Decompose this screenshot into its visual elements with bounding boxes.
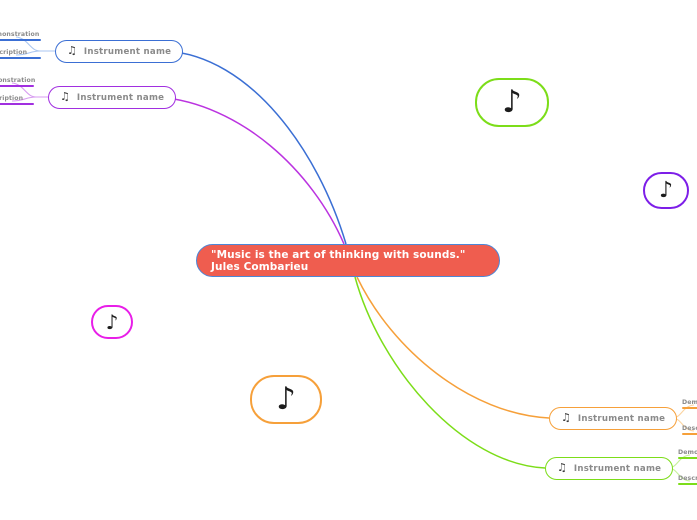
- sub-bar-green-demonstration: [678, 457, 697, 459]
- sub-label-green-description[interactable]: Description: [678, 475, 697, 482]
- note-node-orange[interactable]: ♪: [250, 375, 322, 424]
- sub-label-purple-description[interactable]: Description: [0, 95, 23, 102]
- music-note-icon: ♪: [659, 180, 673, 202]
- music-note-icon: ♪: [276, 384, 296, 415]
- music-note-icon: ♫: [557, 462, 567, 473]
- link-green-main: [355, 277, 545, 468]
- sub-label-blue-description[interactable]: Description: [0, 49, 27, 56]
- music-note-icon: ♫: [67, 45, 77, 56]
- sub-bar-purple-demonstration: [0, 85, 34, 87]
- sub-bar-purple-description: [0, 103, 34, 105]
- sub-label-orange-demonstration[interactable]: Demonstration: [682, 399, 697, 406]
- mindmap-canvas: "Music is the art of thinking with sound…: [0, 0, 697, 520]
- link-purple-main: [159, 97, 344, 244]
- instrument-node-label: Instrument name: [84, 47, 171, 57]
- note-node-magenta[interactable]: ♪: [91, 305, 133, 339]
- instrument-node-label: Instrument name: [77, 93, 164, 103]
- sub-label-blue-demonstration[interactable]: Demonstration: [0, 31, 39, 38]
- link-orange-main: [357, 277, 549, 418]
- sub-label-orange-description[interactable]: Description: [682, 425, 697, 432]
- note-node-green[interactable]: ♪: [475, 78, 549, 127]
- sub-bar-blue-description: [0, 57, 41, 59]
- center-node[interactable]: "Music is the art of thinking with sound…: [196, 244, 500, 277]
- sub-bar-orange-demonstration: [682, 407, 697, 409]
- sub-bar-blue-demonstration: [0, 39, 41, 41]
- link-blue-main: [166, 51, 346, 244]
- instrument-node-purple[interactable]: ♫ Instrument name: [48, 86, 176, 109]
- instrument-node-green[interactable]: ♫ Instrument name: [545, 457, 673, 480]
- center-quote: "Music is the art of thinking with sound…: [211, 249, 465, 261]
- sub-label-purple-demonstration[interactable]: Demonstration: [0, 77, 35, 84]
- music-note-icon: ♫: [60, 91, 70, 102]
- instrument-node-label: Instrument name: [574, 464, 661, 474]
- music-note-icon: ♫: [561, 412, 571, 423]
- instrument-node-label: Instrument name: [578, 414, 665, 424]
- music-note-icon: ♪: [106, 312, 119, 332]
- center-node-text: "Music is the art of thinking with sound…: [211, 249, 485, 273]
- instrument-node-orange[interactable]: ♫ Instrument name: [549, 407, 677, 430]
- note-node-purple[interactable]: ♪: [643, 172, 689, 209]
- sub-label-green-demonstration[interactable]: Demonstration: [678, 449, 697, 456]
- music-note-icon: ♪: [502, 87, 522, 118]
- sub-bar-green-description: [678, 483, 697, 485]
- center-author: Jules Combarieu: [211, 261, 308, 273]
- instrument-node-blue[interactable]: ♫ Instrument name: [55, 40, 183, 63]
- sub-bar-orange-description: [682, 433, 697, 435]
